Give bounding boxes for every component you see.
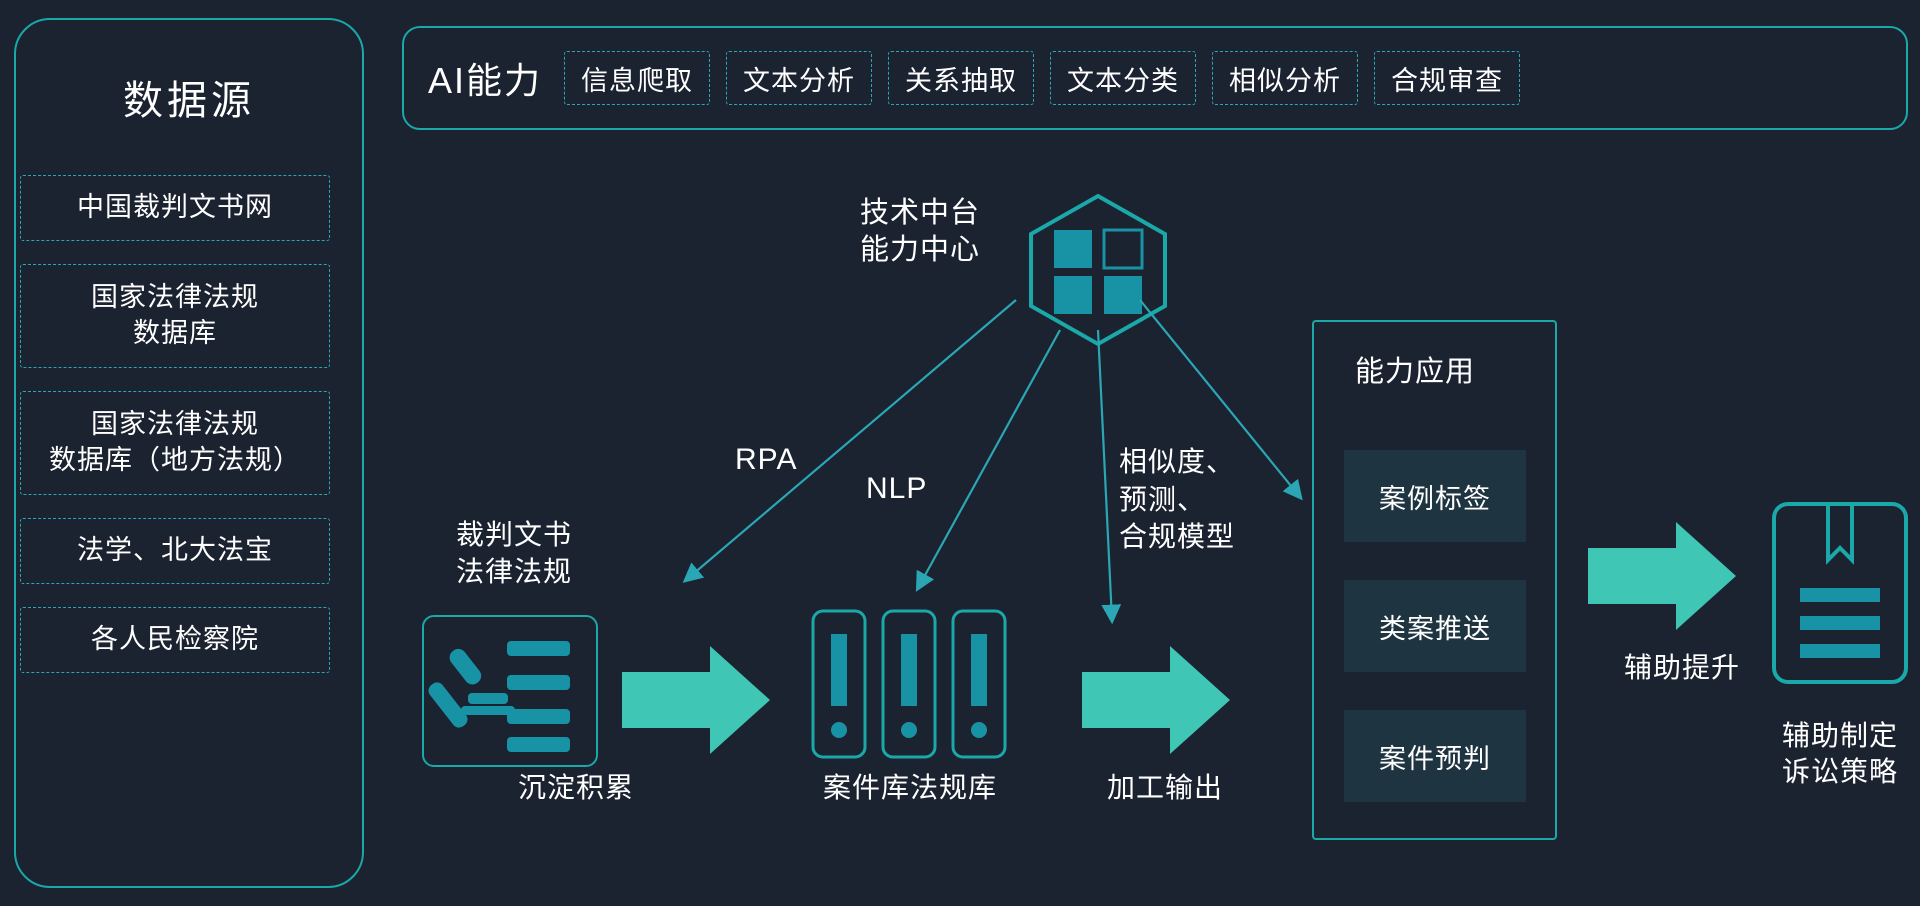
- ai-chip-text-analysis[interactable]: 文本分析: [726, 51, 872, 105]
- caption-accumulation: 沉淀积累: [486, 770, 666, 806]
- data-source-title: 数据源: [16, 68, 362, 126]
- caption-case-law-library: 案件库法规库: [805, 770, 1015, 806]
- hub-label: 技术中台 能力中心: [845, 195, 995, 269]
- ai-chip-compliance-review[interactable]: 合规审查: [1374, 51, 1520, 105]
- ai-chip-info-crawl[interactable]: 信息爬取: [564, 51, 710, 105]
- server-stack-icon: [810, 608, 1010, 765]
- capability-item-case-prediction[interactable]: 案件预判: [1344, 710, 1526, 802]
- data-source-item-label: 国家法律法规 数据库: [91, 280, 259, 351]
- data-source-item-label: 国家法律法规 数据库（地方法规）: [49, 407, 301, 478]
- ai-chip-text-classification[interactable]: 文本分类: [1050, 51, 1196, 105]
- data-source-item[interactable]: 各人民检察院: [20, 607, 330, 673]
- data-source-item-label: 各人民检察院: [91, 622, 259, 658]
- ai-capability-bar: AI能力 信息爬取 文本分析 关系抽取 文本分类 相似分析 合规审查: [402, 26, 1908, 130]
- diagram-canvas: 数据源 中国裁判文书网 国家法律法规 数据库 国家法律法规 数据库（地方法规） …: [0, 0, 1920, 906]
- flow-label-rpa: RPA: [735, 443, 797, 477]
- capability-panel-title: 能力应用: [1355, 348, 1475, 390]
- gavel-document-icon: [422, 615, 598, 767]
- data-source-item[interactable]: 国家法律法规 数据库: [20, 264, 330, 368]
- data-source-item-label: 中国裁判文书网: [77, 190, 273, 226]
- capability-item-similar-case-push[interactable]: 类案推送: [1344, 580, 1526, 672]
- ai-capability-label: AI能力: [428, 52, 542, 104]
- hexagon-grid-icon: [1018, 190, 1178, 350]
- caption-processing-output: 加工输出: [1075, 770, 1255, 806]
- doc-source-label: 裁判文书 法律法规: [424, 517, 604, 591]
- ai-chip-similarity-analysis[interactable]: 相似分析: [1212, 51, 1358, 105]
- capability-item-case-tag[interactable]: 案例标签: [1344, 450, 1526, 542]
- bookmark-document-icon: [1770, 500, 1910, 691]
- caption-result-strategy: 辅助制定 诉讼策略: [1740, 718, 1920, 791]
- data-source-list: 中国裁判文书网 国家法律法规 数据库 国家法律法规 数据库（地方法规） 法学、北…: [20, 175, 330, 696]
- data-source-item-label: 法学、北大法宝: [77, 533, 273, 569]
- caption-assist-improve: 辅助提升: [1592, 650, 1772, 686]
- data-source-item[interactable]: 法学、北大法宝: [20, 518, 330, 584]
- flow-label-nlp: NLP: [866, 472, 927, 506]
- ai-chip-relation-extraction[interactable]: 关系抽取: [888, 51, 1034, 105]
- data-source-item[interactable]: 国家法律法规 数据库（地方法规）: [20, 391, 330, 495]
- flow-label-similarity: 相似度、 预测、 合规模型: [1119, 443, 1235, 556]
- data-source-item[interactable]: 中国裁判文书网: [20, 175, 330, 241]
